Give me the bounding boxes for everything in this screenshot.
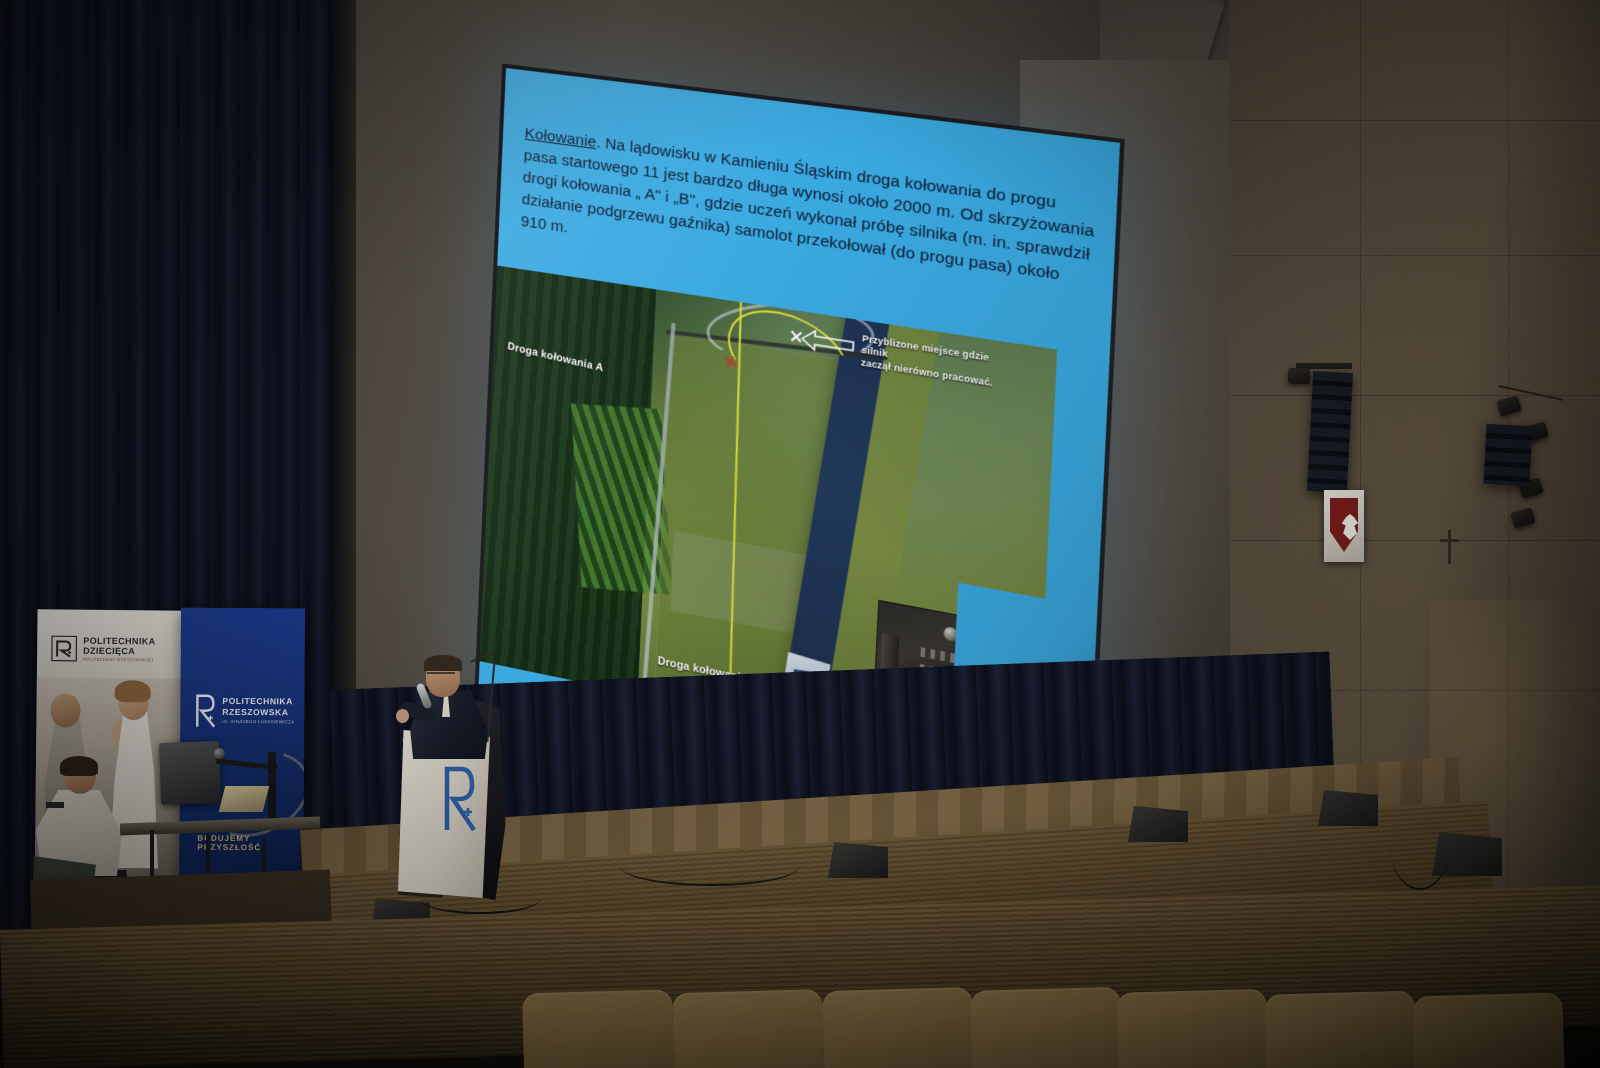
- slide-heading: Kołowanie: [524, 125, 596, 151]
- presenter-hand: [396, 709, 409, 723]
- banner-subtitle: im. IGNACEGO ŁUKASIEWICZA: [222, 719, 294, 725]
- seat: [822, 987, 975, 1068]
- webcam-icon: [214, 748, 225, 759]
- line-array-speaker: [1307, 371, 1353, 493]
- banner-subtitle: POLITECHNIKI RZESZOWSKIEJ: [83, 657, 153, 663]
- seat: [1264, 991, 1417, 1068]
- crucifix-icon: [1448, 530, 1451, 564]
- politechnika-rzeszowska-logo: [194, 694, 216, 728]
- technician-hair: [60, 756, 98, 776]
- desk-monitor: [159, 741, 221, 805]
- stage-monitor-wedge: [1128, 806, 1188, 842]
- audience-member: [716, 962, 790, 1062]
- banner-title-line1: POLITECHNIKA: [222, 696, 293, 706]
- auditorium-scene: Kołowanie. Na lądowisku w Kamieniu Śląsk…: [0, 0, 1600, 1068]
- eagle-bird-icon: [1341, 514, 1359, 540]
- laptop: [219, 786, 269, 812]
- politechnika-dziecieca-logo: [51, 635, 77, 661]
- presenter-hair: [424, 655, 462, 671]
- uniform-epaulet: [46, 802, 64, 808]
- banner-title-line2: DZIECIĘCA: [83, 646, 135, 657]
- seat: [1116, 989, 1269, 1068]
- eagle-shield-icon: [1330, 498, 1358, 552]
- floor-cable: [620, 846, 800, 886]
- audience-member: [586, 968, 660, 1068]
- presenter: [396, 655, 502, 755]
- photo-child-girl-hair: [115, 680, 151, 702]
- stage-light: [1288, 368, 1310, 384]
- slide-paragraph: . Na lądowisku w Kamieniu Śląskim droga …: [520, 134, 1094, 284]
- stage-monitor-wedge: [1318, 790, 1378, 826]
- audience-member: [1424, 825, 1600, 1068]
- presenter-glasses-icon: [427, 672, 455, 678]
- stage-monitor-wedge: [828, 842, 888, 878]
- polish-eagle-emblem: [1324, 490, 1364, 562]
- politechnika-rzeszowska-logo: [442, 766, 476, 832]
- banner-title-line2: RZESZOWSKA: [222, 707, 288, 717]
- line-array-speaker: [1483, 424, 1532, 486]
- seat: [970, 987, 1123, 1068]
- monitor-stand-pole: [268, 752, 276, 826]
